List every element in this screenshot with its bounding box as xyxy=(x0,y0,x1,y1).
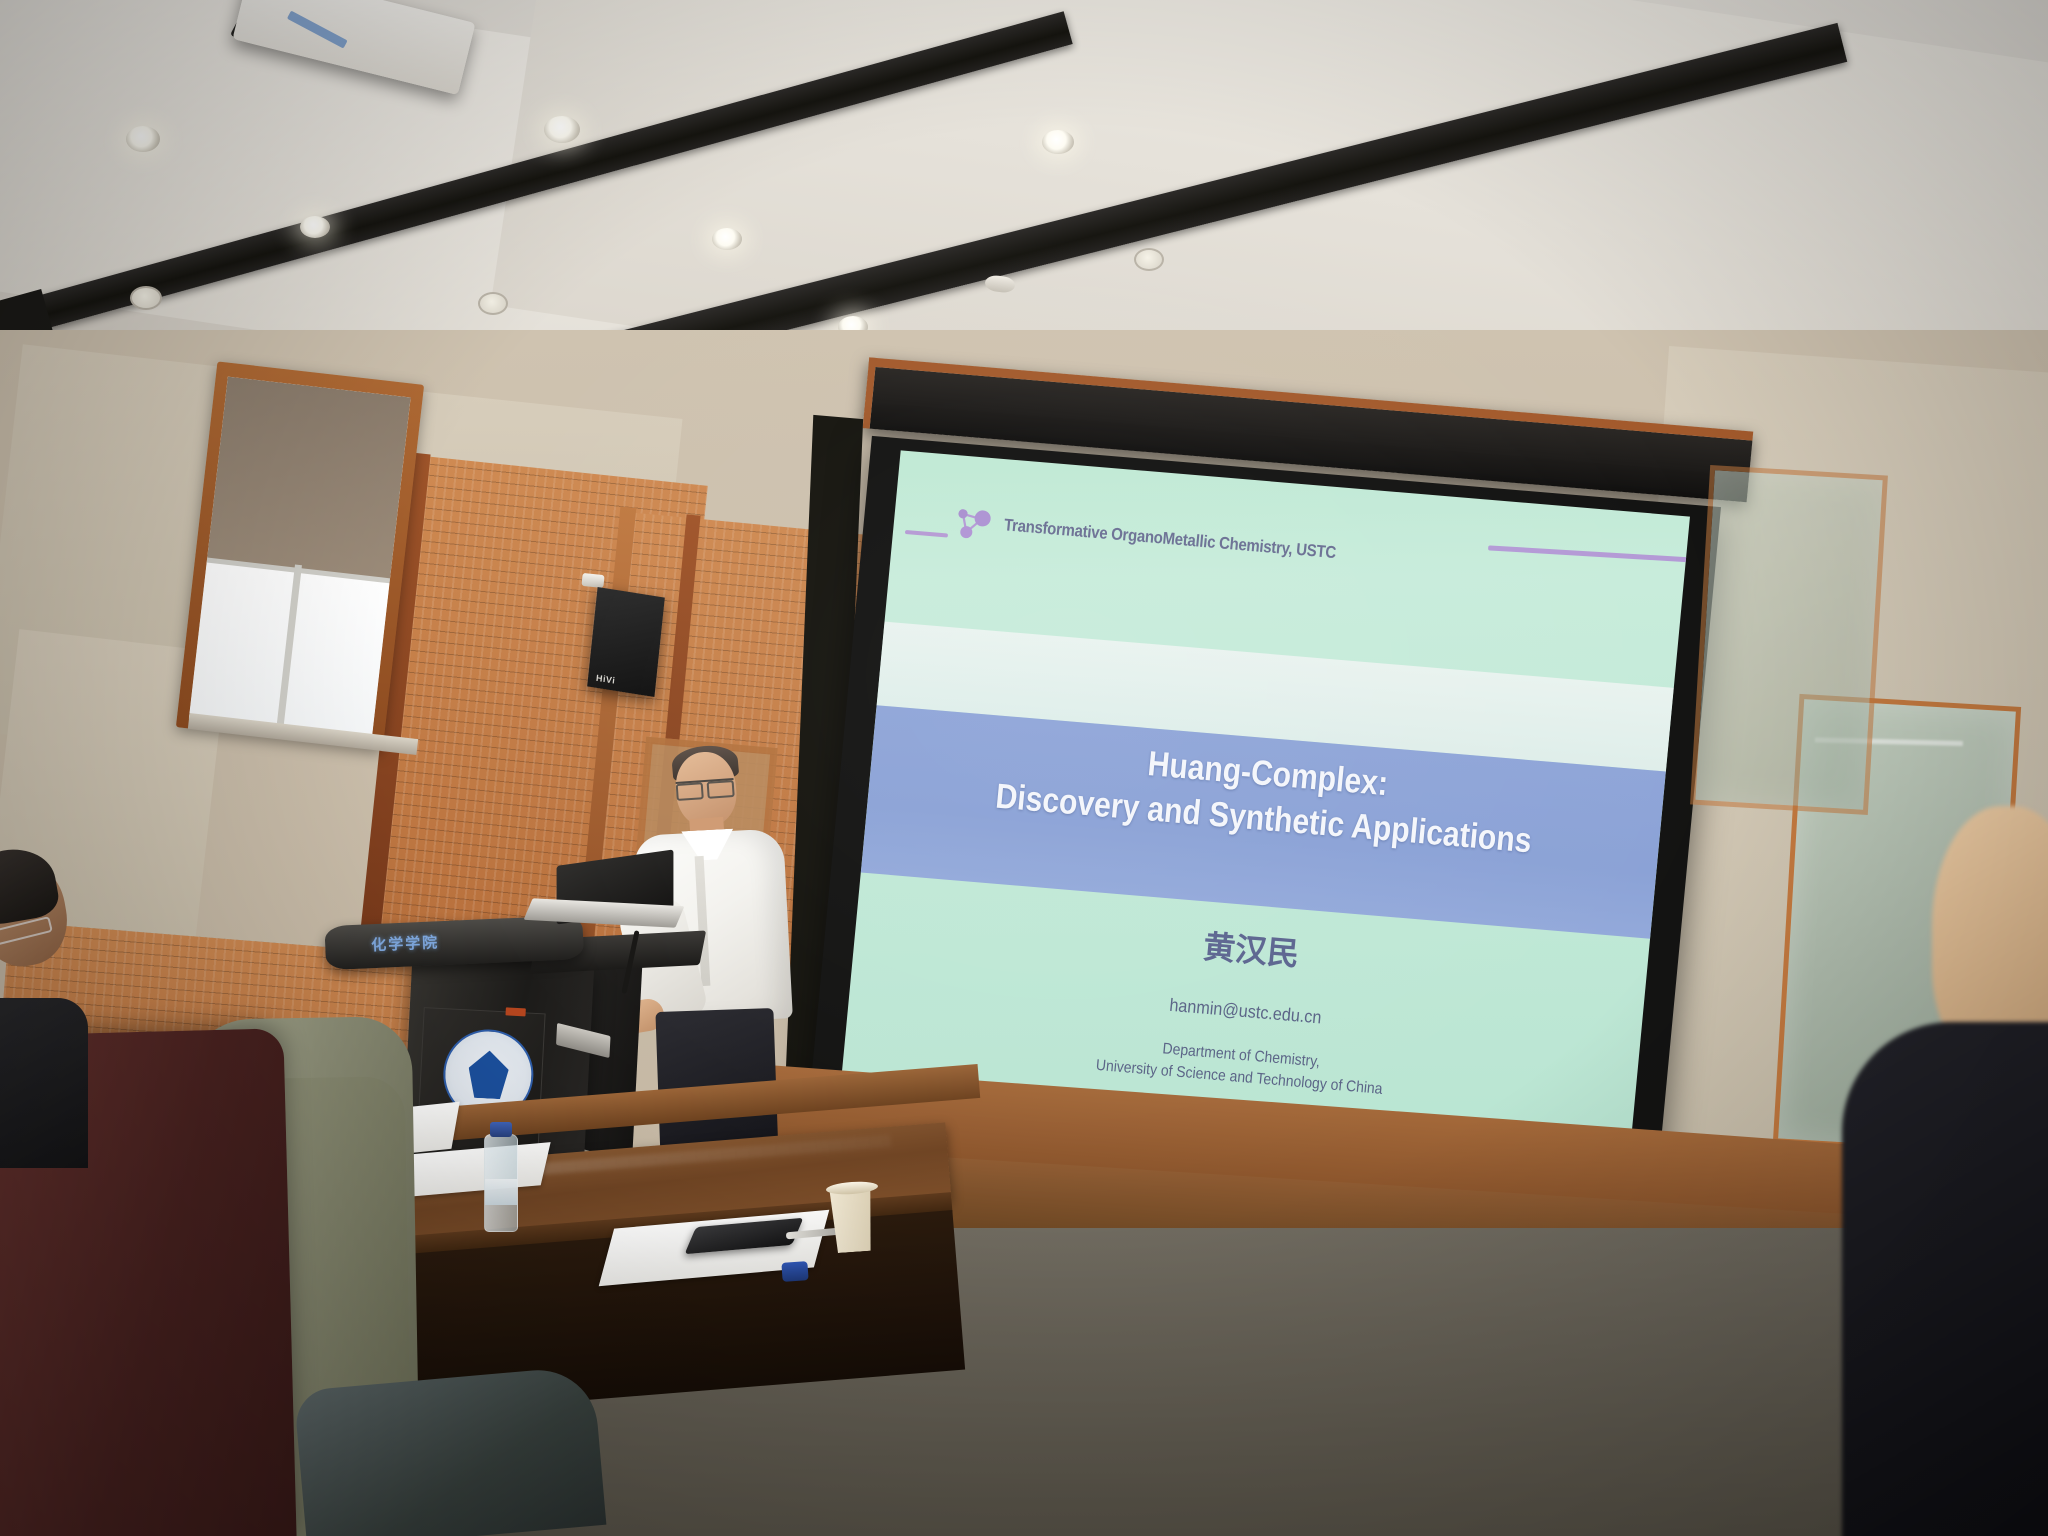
draped-coat xyxy=(294,1365,607,1536)
window xyxy=(176,361,424,750)
speaker-brand-label: HiVi xyxy=(596,673,616,686)
downlight xyxy=(1134,248,1164,271)
water-bottle xyxy=(484,1134,518,1232)
attendee-left xyxy=(0,862,88,1072)
downlight xyxy=(126,126,160,152)
slide-header: Transformative OrganoMetallic Chemistry,… xyxy=(952,504,1383,574)
roller-blind[interactable] xyxy=(207,377,411,582)
crest-emblem xyxy=(467,1050,509,1100)
bottle-cap xyxy=(490,1122,512,1137)
projector-logo xyxy=(287,11,348,49)
podium-indicator xyxy=(505,1007,525,1016)
blue-bottle-cap xyxy=(781,1261,808,1282)
downlight xyxy=(300,216,330,238)
slide-header-text: Transformative OrganoMetallic Chemistry,… xyxy=(1004,515,1338,563)
presentation-slide: Transformative OrganoMetallic Chemistry,… xyxy=(840,450,1690,1161)
downlight xyxy=(130,286,162,310)
podium-top-label: 化学学院 xyxy=(371,931,440,955)
window-glass-area xyxy=(189,377,411,740)
downlight xyxy=(478,292,508,315)
attendee-right-body xyxy=(1842,1022,2048,1536)
downlight xyxy=(712,228,742,250)
lecture-hall-photo: HiVi T xyxy=(0,0,2048,1536)
glass-panel xyxy=(1690,465,1888,815)
glasses-icon xyxy=(676,778,735,797)
bottle-label xyxy=(485,1179,517,1205)
downlight xyxy=(1042,130,1074,154)
slide-accent-rule-right xyxy=(1488,545,1690,562)
molecule-icon xyxy=(952,504,997,541)
downlight xyxy=(544,116,580,143)
wall-speaker: HiVi xyxy=(587,587,665,697)
security-camera-icon xyxy=(581,573,604,588)
attendee-left-body xyxy=(0,998,88,1168)
slide-accent-rule-left xyxy=(905,530,949,538)
attendee-right xyxy=(1886,806,2048,1536)
